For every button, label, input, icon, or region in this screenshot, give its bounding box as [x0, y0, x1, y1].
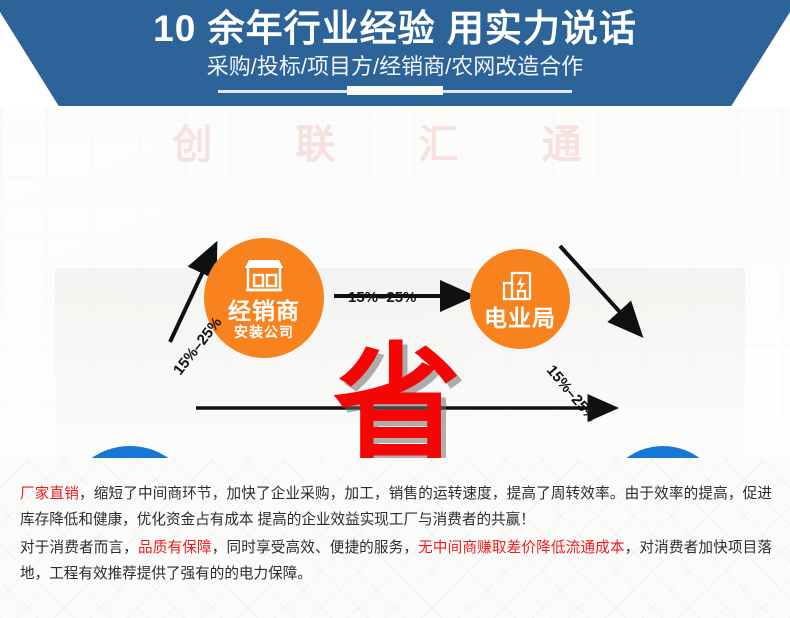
node-power-bureau-label: 电业局 — [484, 305, 556, 331]
paragraph-two-highlight-two: 无中间商赚取差价降低流通成本 — [418, 540, 624, 556]
arrow-bureau-to-consumer — [560, 246, 638, 332]
paragraph-two: 对于消费者而言，品质有保障，同时享受高效、便捷的服务，无中间商赚取差价降低流通成… — [20, 535, 772, 587]
savings-character: 省 — [333, 342, 461, 458]
arrow-label-dealer-to-bureau: 15%–25% — [348, 289, 416, 306]
paragraph-one: 厂家直销，缩短了中间商环节，加快了企业采购，加工，销售的运转速度，提高了周转效率… — [20, 481, 772, 533]
paragraph-one-highlight: 厂家直销 — [20, 486, 79, 502]
page-header: 10 余年行业经验 用实力说话 采购/投标/项目方/经销商/农网改造合作 — [0, 0, 790, 106]
footer-copy: 厂家直销，缩短了中间商环节，加快了企业采购，加工，销售的运转速度，提高了周转效率… — [0, 458, 790, 618]
header-divider-center — [347, 86, 443, 95]
power-building-icon — [500, 267, 540, 303]
paragraph-two-text-a: 对于消费者而言， — [20, 540, 138, 556]
flow-diagram: 创 联 汇 通 — [0, 106, 790, 458]
promo-page: 10 余年行业经验 用实力说话 采购/投标/项目方/经销商/农网改造合作 创 联… — [0, 0, 790, 618]
node-power-bureau[interactable]: 电业局 — [470, 249, 570, 349]
node-dealer-label: 经销商 — [228, 298, 300, 324]
node-dealer-sublabel: 安装公司 — [234, 324, 294, 341]
header-title: 10 余年行业经验 用实力说话 — [0, 7, 790, 51]
storefront-icon — [240, 256, 288, 296]
paragraph-one-text: ，缩短了中间商环节，加快了企业采购，加工，销售的运转速度，提高了周转效率。由于效… — [20, 486, 772, 528]
header-subtitle: 采购/投标/项目方/经销商/农网改造合作 — [0, 53, 790, 81]
paragraph-two-text-b: ，同时享受高效、便捷的服务， — [212, 540, 418, 556]
paragraph-two-highlight-one: 品质有保障 — [138, 540, 212, 556]
node-dealer[interactable]: 经销商 安装公司 — [204, 238, 324, 358]
